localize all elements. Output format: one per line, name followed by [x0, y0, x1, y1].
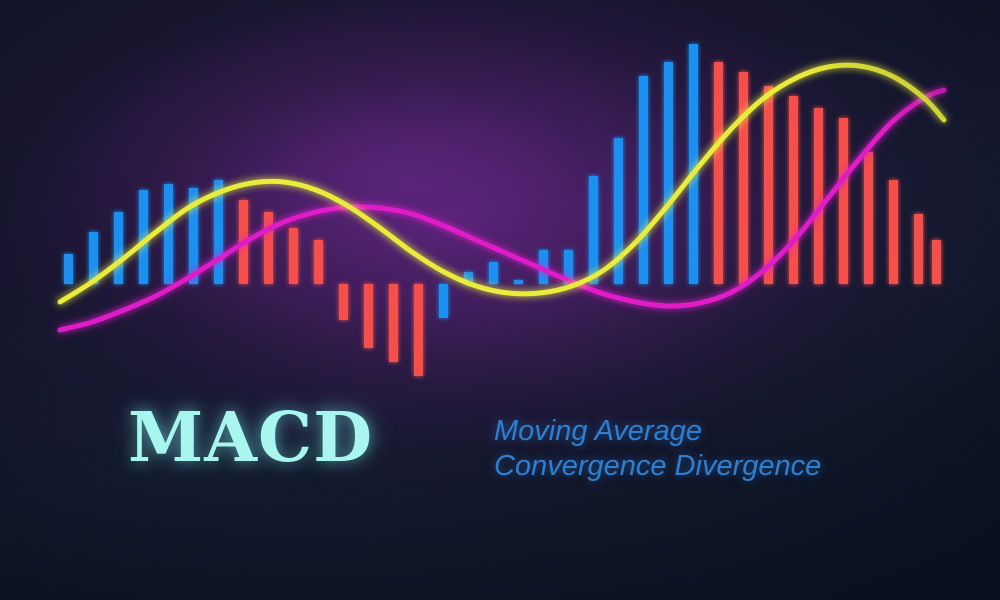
macd-banner: MACD Moving Average Convergence Divergen…: [0, 0, 1000, 600]
background-vignette: [0, 0, 1000, 600]
